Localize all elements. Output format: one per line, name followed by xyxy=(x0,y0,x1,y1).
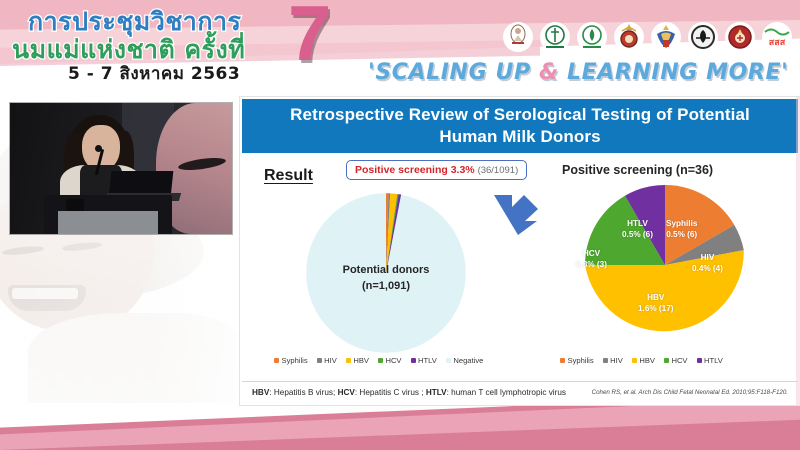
legend2-item-hcv: HCV xyxy=(664,356,688,365)
legend-item-syphilis: Syphilis xyxy=(274,356,308,365)
positive-screening-callout: Positive screening 3.3% (36/1091) xyxy=(346,160,527,180)
slide-right-edge xyxy=(796,97,800,405)
nursing-council-logo xyxy=(577,22,607,52)
abbrev-hbv: HBV xyxy=(252,388,269,397)
sss-foundation-logo: สสส xyxy=(762,22,792,52)
pie-label-hiv: HIV0.4% (4) xyxy=(692,253,723,274)
legend2-item-htlv: HTLV xyxy=(697,356,723,365)
pie-label-htlv: HTLV0.5% (6) xyxy=(622,219,653,240)
pie-label-syphilis: Syphilis0.5% (6) xyxy=(666,219,697,240)
legend-potential-donors: Syphilis HIV HBV HCV HTLV Negative xyxy=(274,356,483,365)
conference-tagline: 'SCALING UP & LEARNING MORE' xyxy=(368,60,788,85)
legend-item-negative: Negative xyxy=(446,356,483,365)
tagline-ampersand: & xyxy=(539,60,559,85)
conference-header-banner: การประชุมวิชาการ นมแม่แห่งชาติ ครั้งที่ … xyxy=(0,0,800,95)
tagline-part2: LEARNING MORE' xyxy=(559,60,789,85)
ministry-health-logo xyxy=(688,22,718,52)
medical-council-logo xyxy=(540,22,570,52)
legend2-item-syphilis: Syphilis xyxy=(560,356,594,365)
positive-screening-chart: Syphilis0.5% (6) HIV0.4% (4) HBV1.6% (17… xyxy=(570,181,760,349)
abbreviation-definitions: HBV: Hepatitis B virus; HCV: Hepatitis C… xyxy=(252,388,566,397)
conference-edition-number: 7 xyxy=(288,0,331,72)
legend-positive-screening: Syphilis HIV HBV HCV HTLV xyxy=(560,356,723,365)
svg-text:สสส: สสส xyxy=(769,38,786,48)
royal-emblem-logo xyxy=(503,22,533,52)
positive-screening-chart-title: Positive screening (n=36) xyxy=(562,163,792,177)
legend2-item-hiv: HIV xyxy=(603,356,623,365)
garuda-logo xyxy=(651,22,681,52)
legend-item-hiv: HIV xyxy=(317,356,337,365)
presentation-slide: Retrospective Review of Serological Test… xyxy=(240,97,800,405)
slide-title: Retrospective Review of Serological Test… xyxy=(242,99,798,153)
pie-label-hcv: HCV0.3% (3) xyxy=(576,249,607,270)
potential-donors-chart: Potential donors (n=1,091) xyxy=(280,189,500,357)
potential-donors-title: Potential donors xyxy=(343,264,430,276)
legend-item-htlv: HTLV xyxy=(411,356,437,365)
callout-percent-text: Positive screening 3.3% xyxy=(355,164,475,176)
sponsor-logos-row: สสส xyxy=(503,22,792,52)
legend2-item-hbv: HBV xyxy=(632,356,655,365)
result-heading: Result xyxy=(264,167,313,185)
screenshot-root: การประชุมวิชาการ นมแม่แห่งชาติ ครั้งที่ … xyxy=(0,0,800,450)
legend-item-hcv: HCV xyxy=(378,356,402,365)
speaker-video-feed[interactable] xyxy=(10,103,232,234)
slide-citation: Cohen RS, et al. Arch Dis Child Fetal Ne… xyxy=(592,389,788,396)
pie-label-hbv: HBV1.6% (17) xyxy=(638,293,674,314)
royal-crest-logo xyxy=(614,22,644,52)
potential-donors-subtitle: (n=1,091) xyxy=(362,280,410,292)
conference-date: 5 - 7 สิงหาคม 2563 xyxy=(68,60,240,87)
callout-fraction-text: (36/1091) xyxy=(478,165,519,176)
slide-footnote: HBV: Hepatitis B virus; HCV: Hepatitis C… xyxy=(242,381,798,403)
potential-donors-caption: Potential donors (n=1,091) xyxy=(280,263,492,295)
red-seal-logo xyxy=(725,22,755,52)
legend-item-hbv: HBV xyxy=(346,356,369,365)
abbrev-hcv: HCV xyxy=(338,388,355,397)
tagline-part1: 'SCALING UP xyxy=(368,60,539,85)
abbrev-htlv: HTLV xyxy=(426,388,447,397)
